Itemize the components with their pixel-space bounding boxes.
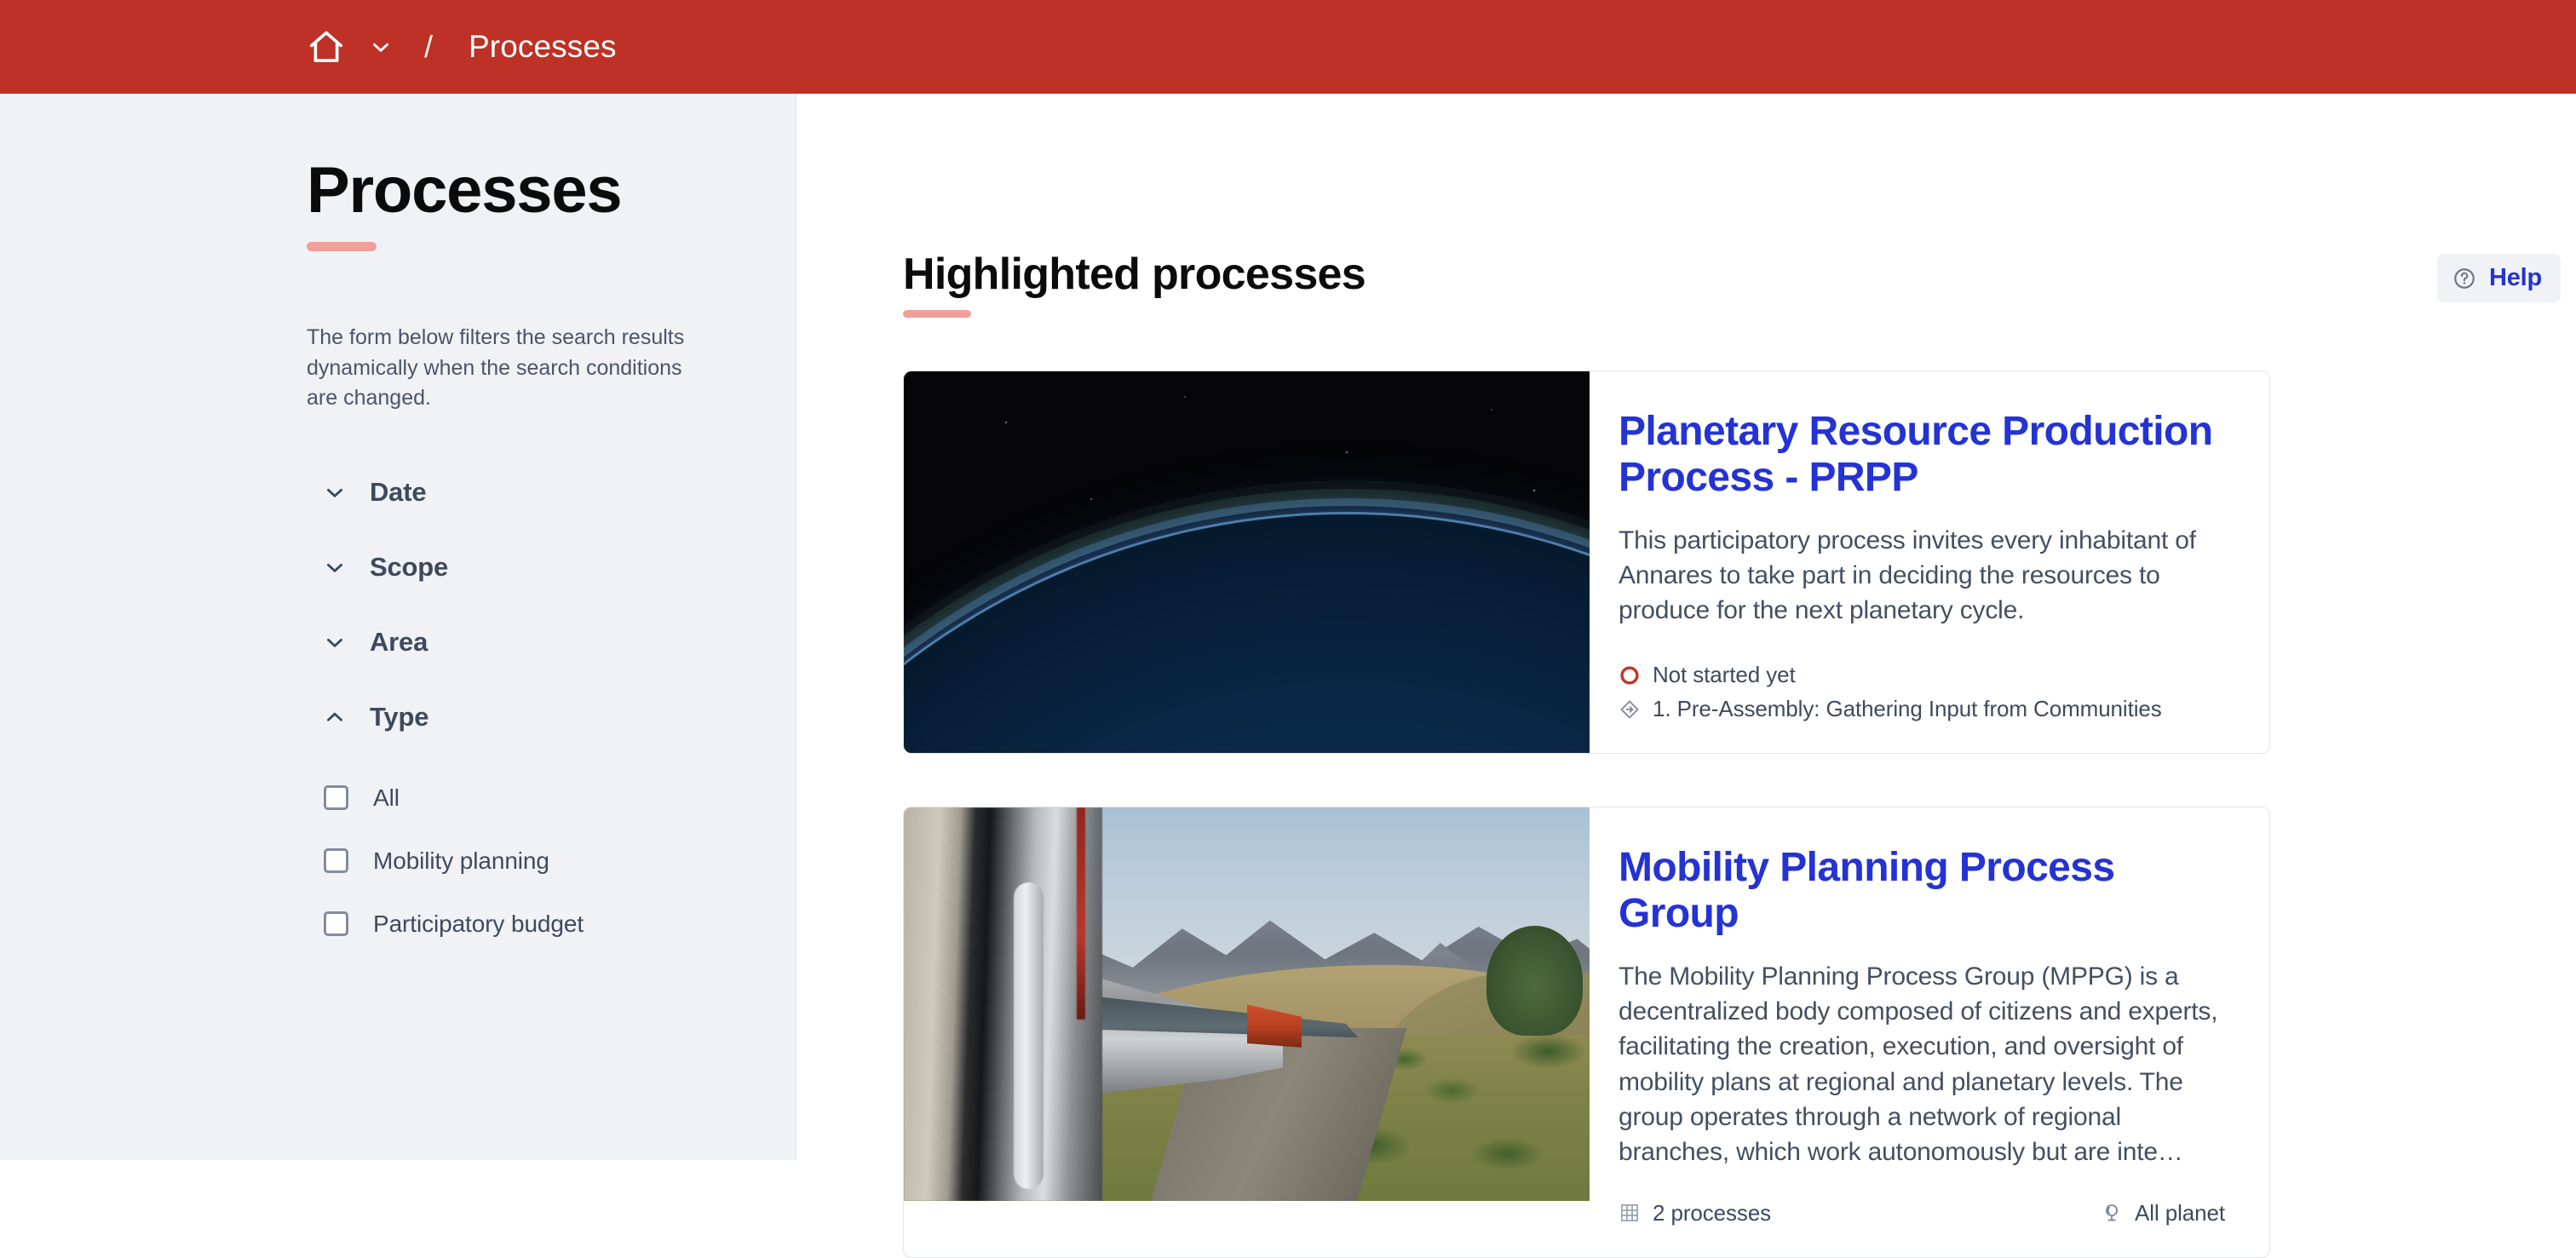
- breadcrumb-separator: /: [424, 32, 433, 62]
- filter-section-label: Scope: [370, 552, 448, 583]
- filter-section-scope[interactable]: Scope: [307, 530, 733, 605]
- process-group-metadata: 2 processes: [1619, 1170, 2225, 1226]
- breadcrumb-bar: / Processes: [0, 0, 2576, 94]
- title-underline-rule: [307, 242, 377, 251]
- process-scope-text: All planet: [2135, 1200, 2225, 1226]
- process-card[interactable]: Planetary Resource Production Process - …: [903, 371, 2270, 754]
- checkbox-label: Participatory budget: [373, 910, 584, 938]
- home-icon[interactable]: [307, 27, 346, 66]
- type-filter-options: All Mobility planning Participatory budg…: [307, 767, 733, 956]
- process-metadata: Not started yet 1. Pre-Assembly: Gather: [1619, 632, 2225, 722]
- diamond-arrow-icon: [1619, 698, 1641, 721]
- help-button[interactable]: Help: [2437, 254, 2561, 302]
- checkbox-label: Mobility planning: [373, 847, 549, 875]
- section-title: Highlighted processes: [903, 252, 2576, 296]
- circle-outline-icon: [1619, 664, 1641, 686]
- process-group-meta-row: 2 processes: [1619, 1200, 2225, 1226]
- filter-section-label: Type: [370, 702, 428, 732]
- chevron-down-icon[interactable]: [346, 36, 392, 58]
- filter-section-type[interactable]: Type: [307, 680, 733, 755]
- checkbox-box[interactable]: [324, 848, 348, 873]
- process-title-link[interactable]: Planetary Resource Production Process - …: [1619, 409, 2225, 501]
- filters-sidebar: Processes The form below filters the sea…: [0, 94, 796, 1160]
- checkbox-row-participatory-budget[interactable]: Participatory budget: [307, 893, 733, 956]
- checkbox-box[interactable]: [324, 785, 348, 810]
- process-step-row: 1. Pre-Assembly: Gathering Input from Co…: [1619, 696, 2225, 722]
- process-description: This participatory process invites every…: [1619, 523, 2225, 629]
- process-status-row: Not started yet: [1619, 662, 2225, 688]
- question-circle-icon: [2452, 267, 2476, 290]
- filter-section-area[interactable]: Area: [307, 605, 733, 680]
- checkbox-row-mobility-planning[interactable]: Mobility planning: [307, 830, 733, 893]
- process-status-text: Not started yet: [1653, 662, 1796, 688]
- filter-section-label: Date: [370, 477, 426, 508]
- process-count-text: 2 processes: [1653, 1200, 1771, 1226]
- chevron-up-icon: [324, 706, 346, 728]
- chevron-down-icon: [324, 631, 346, 653]
- help-label: Help: [2489, 264, 2542, 292]
- filter-description: The form below filters the search result…: [307, 323, 686, 414]
- grid-icon: [1619, 1202, 1641, 1224]
- section-underline-rule: [903, 310, 971, 318]
- globe-stand-icon: [2101, 1202, 2123, 1224]
- checkbox-box[interactable]: [324, 911, 348, 936]
- checkbox-row-all[interactable]: All: [307, 767, 733, 830]
- process-card[interactable]: Mobility Planning Process Group The Mobi…: [903, 807, 2270, 1258]
- page-title: Processes: [307, 158, 796, 223]
- chevron-down-icon: [324, 556, 346, 578]
- filter-accordion: Date Scope Area: [307, 455, 733, 956]
- filter-section-label: Area: [370, 627, 428, 658]
- process-step-text: 1. Pre-Assembly: Gathering Input from Co…: [1653, 696, 2162, 722]
- train-in-valley-image: [904, 807, 1590, 1201]
- checkbox-label: All: [373, 784, 400, 812]
- filter-section-date[interactable]: Date: [307, 455, 733, 530]
- process-group-description: The Mobility Planning Process Group (MPP…: [1619, 959, 2225, 1170]
- breadcrumb-current: Processes: [469, 29, 617, 65]
- main-content: Help Highlighted processes Planetary Res: [796, 94, 2576, 1160]
- chevron-down-icon: [324, 481, 346, 503]
- process-group-title-link[interactable]: Mobility Planning Process Group: [1619, 845, 2225, 937]
- earth-from-space-image: [904, 371, 1590, 753]
- highlighted-processes-list: Planetary Resource Production Process - …: [903, 371, 2270, 1258]
